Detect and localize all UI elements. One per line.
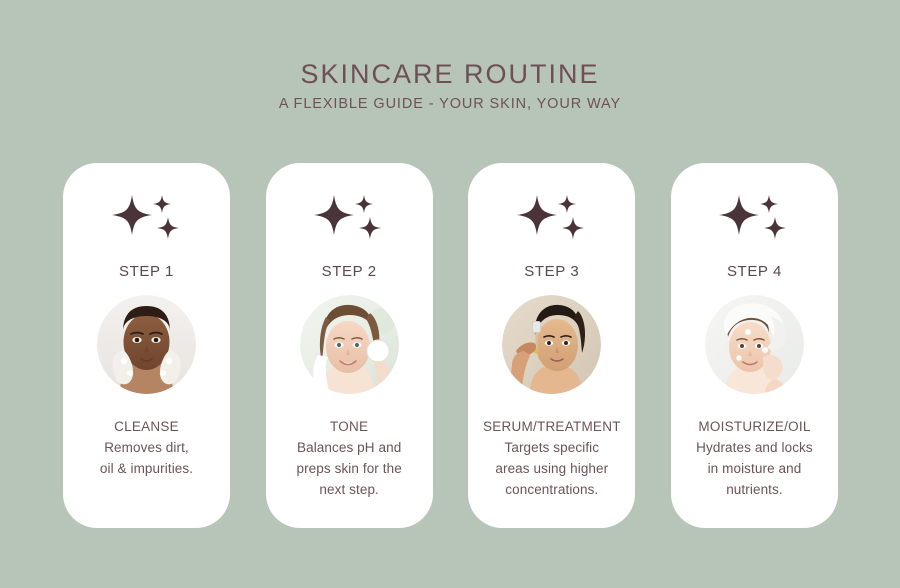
step-number-label: STEP 1: [119, 263, 174, 281]
step-desc-line: Hydrates and locks: [674, 437, 834, 458]
sparkle-cluster-icon: [711, 189, 797, 245]
step-title: TONE: [269, 416, 429, 437]
sparkle-cluster-icon: [306, 189, 392, 245]
sparkle-cluster-icon: [509, 189, 595, 245]
step-photo-2: [300, 295, 399, 394]
step-desc-line: areas using higher: [472, 458, 632, 479]
page-title: SKINCARE ROUTINE: [0, 58, 900, 90]
steps-container: STEP 1: [63, 163, 838, 528]
step-photo-4: [705, 295, 804, 394]
page-subtitle: A FLEXIBLE GUIDE - YOUR SKIN, YOUR WAY: [0, 94, 900, 114]
step-card-3[interactable]: STEP 3: [468, 163, 635, 528]
step-desc-line: preps skin for the: [269, 458, 429, 479]
step-card-4[interactable]: STEP 4: [671, 163, 838, 528]
step-desc-line: next step.: [269, 479, 429, 500]
step-title: MOISTURIZE/OIL: [674, 416, 834, 437]
step-desc-line: in moisture and: [674, 458, 834, 479]
skincare-routine-infographic: SKINCARE ROUTINE A FLEXIBLE GUIDE - YOUR…: [0, 0, 900, 588]
step-caption-2: TONE Balances pH and preps skin for the …: [269, 416, 429, 500]
step-desc-line: Targets specific: [472, 437, 632, 458]
step-desc-line: Removes dirt,: [67, 437, 227, 458]
step-caption-3: SERUM/TREATMENT Targets specific areas u…: [472, 416, 632, 500]
step-card-2[interactable]: STEP 2: [266, 163, 433, 528]
step-title: CLEANSE: [67, 416, 227, 437]
step-card-1[interactable]: STEP 1: [63, 163, 230, 528]
step-desc-line: Balances pH and: [269, 437, 429, 458]
step-number-label: STEP 3: [524, 263, 579, 281]
step-caption-4: MOISTURIZE/OIL Hydrates and locks in moi…: [674, 416, 834, 500]
step-desc-line: concentrations.: [472, 479, 632, 500]
step-title: SERUM/TREATMENT: [472, 416, 632, 437]
step-desc-line: nutrients.: [674, 479, 834, 500]
step-photo-1: [97, 295, 196, 394]
step-number-label: STEP 2: [322, 263, 377, 281]
step-photo-3: [502, 295, 601, 394]
step-desc-line: oil & impurities.: [67, 458, 227, 479]
header: SKINCARE ROUTINE A FLEXIBLE GUIDE - YOUR…: [0, 58, 900, 114]
step-number-label: STEP 4: [727, 263, 782, 281]
sparkle-cluster-icon: [104, 189, 190, 245]
step-caption-1: CLEANSE Removes dirt, oil & impurities.: [67, 416, 227, 479]
